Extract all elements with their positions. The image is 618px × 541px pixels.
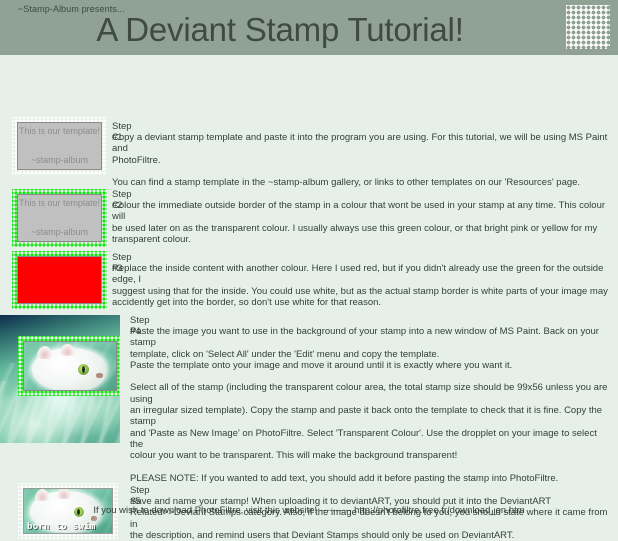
step-2-template-line-2: ~stamp-album bbox=[18, 227, 101, 237]
step-1-image: This is our template! ~stamp-album bbox=[12, 117, 107, 175]
step-1-template-box: This is our template! ~stamp-album bbox=[17, 122, 102, 170]
page-header: ~Stamp-Album presents... A Deviant Stamp… bbox=[0, 0, 618, 55]
step-2-template-box: This is our template! ~stamp-album bbox=[17, 194, 102, 242]
step-1-body: Copy a deviant stamp template and paste … bbox=[112, 132, 612, 188]
logo-line-3: ALBUM bbox=[577, 31, 600, 39]
stamp-water-texture bbox=[24, 342, 116, 390]
tutorial-body: This is our template! ~stamp-album Step … bbox=[0, 55, 618, 522]
logo-line-2: STAMP bbox=[577, 23, 600, 31]
stamp-caption: born to swim bbox=[27, 522, 96, 532]
step-1-template-line-2: ~stamp-album bbox=[18, 155, 101, 165]
logo-text: DA STAMP ALBUM bbox=[570, 9, 606, 45]
step-5-body: Save and name your stamp! When uploading… bbox=[130, 496, 612, 541]
step-3-body: Replace the inside content with another … bbox=[112, 263, 612, 308]
logo-line-1: DA bbox=[583, 15, 592, 23]
step-4-stamp-photo bbox=[23, 341, 117, 391]
step-2-body: Colour the immediate outside border of t… bbox=[112, 200, 612, 245]
step-2-image: This is our template! ~stamp-album bbox=[12, 189, 107, 247]
logo-swirl-background: DA STAMP ALBUM bbox=[570, 9, 606, 45]
footer-download-note: If you wish to download PhotoFiltre, vis… bbox=[0, 505, 618, 516]
step-1-template-line-1: This is our template! bbox=[18, 126, 101, 136]
step-4-body: Paste the image you want to use in the b… bbox=[130, 326, 612, 484]
step-4-image bbox=[0, 315, 120, 443]
page-title: A Deviant Stamp Tutorial! bbox=[0, 11, 560, 48]
step-3-image bbox=[12, 251, 107, 309]
step-4-overlaid-stamp bbox=[18, 336, 120, 396]
stamp-album-logo: DA STAMP ALBUM bbox=[566, 5, 610, 49]
step-3-red-fill bbox=[17, 256, 102, 304]
step-2-template-line-1: This is our template! bbox=[18, 198, 101, 208]
